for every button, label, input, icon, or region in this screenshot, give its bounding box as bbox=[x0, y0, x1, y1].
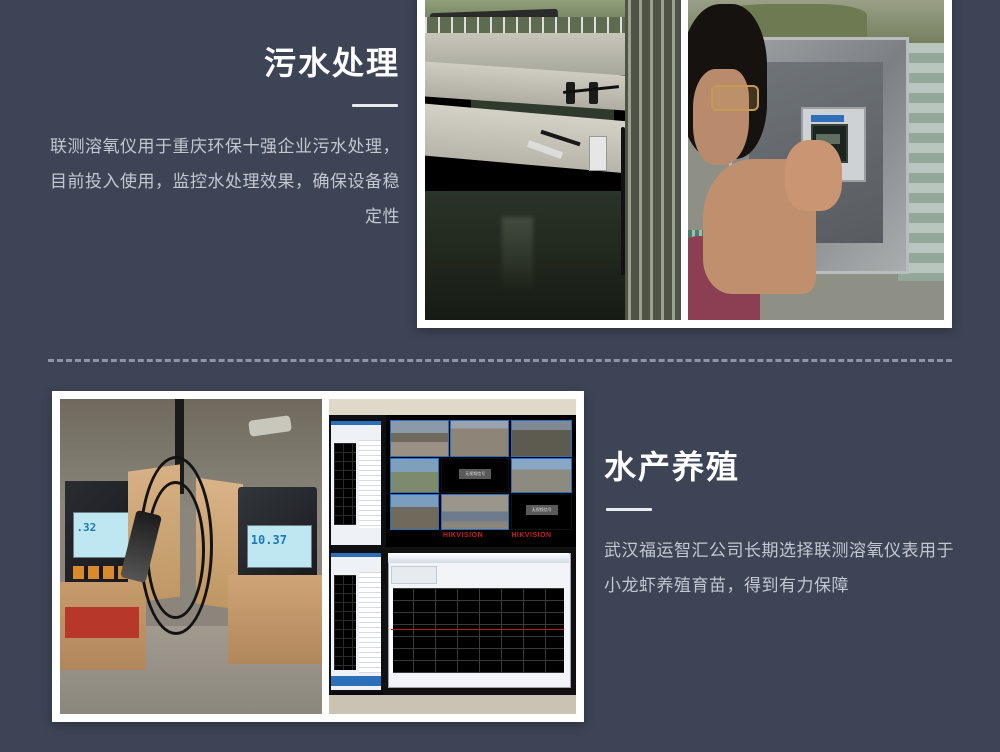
cctv-cell-3 bbox=[511, 420, 572, 457]
photo-trend-line bbox=[391, 629, 564, 630]
cctv-scene bbox=[391, 459, 438, 491]
cctv-cell-7 bbox=[390, 494, 439, 530]
cctv-scene bbox=[451, 421, 508, 456]
cctv-scene bbox=[512, 421, 571, 456]
product-detail-page: 污水处理 联测溶氧仪用于重庆环保十强企业污水处理，目前投入使用，监控水处理效果，… bbox=[0, 0, 1000, 752]
photo-data-list-bl bbox=[359, 572, 381, 673]
photo-carton-label bbox=[65, 607, 138, 639]
oxygen-meter-reading: 10.37 bbox=[251, 533, 287, 547]
photo-chart-grid-bl bbox=[334, 575, 356, 670]
cctv-cell-6 bbox=[511, 458, 572, 492]
photo-trend-titlebar bbox=[388, 553, 568, 562]
wastewater-treatment-tanks-photo bbox=[425, 0, 681, 320]
aquaculture-description: 武汉福运智汇公司长期选择联测溶氧仪表用于小龙虾养殖育苗，得到有力保障 bbox=[604, 533, 962, 603]
cctv-cell-4 bbox=[390, 458, 439, 492]
photo-ph-meter-display: .32 bbox=[73, 512, 133, 558]
photo-instrument-indicator bbox=[811, 115, 844, 122]
photo-chart-grid-tl bbox=[334, 443, 356, 525]
photo-cctv-wall: 无视频信号 无视频信号 bbox=[386, 415, 576, 547]
technician-cabinet-photo bbox=[688, 0, 944, 320]
wastewater-description: 联测溶氧仪用于重庆环保十强企业污水处理，目前投入使用，监控水处理效果，确保设备稳… bbox=[40, 129, 400, 234]
title-rule-wastewater bbox=[352, 104, 398, 107]
ph-meter-reading: .32 bbox=[76, 521, 96, 534]
cctv-no-signal-label: 无视频信号 bbox=[526, 505, 558, 515]
photo-taskbar bbox=[331, 676, 380, 685]
wastewater-text-block: 污水处理 联测溶氧仪用于重庆环保十强企业污水处理，目前投入使用，监控水处理效果，… bbox=[40, 44, 400, 234]
photo-oxygen-meter-display: 10.37 bbox=[247, 525, 312, 568]
photo-mesh-fence bbox=[625, 0, 681, 320]
section-aquaculture: 水产养殖 武汉福运智汇公司长期选择联测溶氧仪表用于小龙虾养殖育苗，得到有力保障 … bbox=[0, 380, 1000, 752]
aquaculture-text-block: 水产养殖 武汉福运智汇公司长期选择联测溶氧仪表用于小龙虾养殖育苗，得到有力保障 bbox=[604, 448, 962, 603]
cctv-scene bbox=[442, 495, 508, 529]
photo-coiled-cable-inner bbox=[146, 481, 204, 619]
photo-trend-plot bbox=[391, 588, 564, 673]
section-divider bbox=[48, 359, 952, 362]
photo-sensor-housing bbox=[589, 136, 606, 170]
meters-on-boxes-photo: .32 10.37 bbox=[60, 399, 322, 714]
photo-technician-hand bbox=[785, 140, 841, 211]
photo-valve-right bbox=[589, 82, 598, 104]
photo-trend-axis bbox=[390, 588, 394, 673]
cctv-scene bbox=[391, 495, 438, 529]
photo-technician-face bbox=[693, 69, 749, 166]
cctv-cell-1 bbox=[390, 420, 449, 457]
cctv-cell-9-no-signal: 无视频信号 bbox=[511, 494, 572, 530]
page-title-aquaculture: 水产养殖 bbox=[604, 448, 962, 486]
photo-data-list-tl bbox=[359, 440, 381, 528]
cctv-cell-2 bbox=[450, 420, 509, 457]
cctv-cell-5-no-signal: 无视频信号 bbox=[441, 458, 509, 492]
cctv-no-signal-label: 无视频信号 bbox=[459, 469, 491, 479]
hikvision-logo-right: HIKVISION bbox=[511, 532, 551, 539]
photo-dissolved-oxygen-probe bbox=[621, 127, 625, 275]
page-title-wastewater: 污水处理 bbox=[40, 44, 400, 82]
wastewater-photo-frame bbox=[417, 0, 952, 328]
title-rule-aquaculture bbox=[606, 508, 652, 511]
cctv-cell-8 bbox=[441, 494, 509, 530]
cctv-scene bbox=[391, 421, 448, 456]
photo-desk bbox=[329, 695, 576, 714]
photo-eyeglasses bbox=[711, 85, 759, 112]
hikvision-logo-left: HIKVISION bbox=[443, 532, 483, 539]
aquaculture-photo-frame: .32 10.37 bbox=[52, 391, 584, 722]
photo-trend-toolbar bbox=[391, 566, 437, 584]
photo-carton-right bbox=[228, 575, 322, 663]
section-wastewater-treatment: 污水处理 联测溶氧仪用于重庆环保十强企业污水处理，目前投入使用，监控水处理效果，… bbox=[0, 0, 1000, 340]
cctv-scene bbox=[512, 459, 571, 491]
monitoring-workstation-photo: 无视频信号 无视频信号 bbox=[329, 399, 576, 714]
